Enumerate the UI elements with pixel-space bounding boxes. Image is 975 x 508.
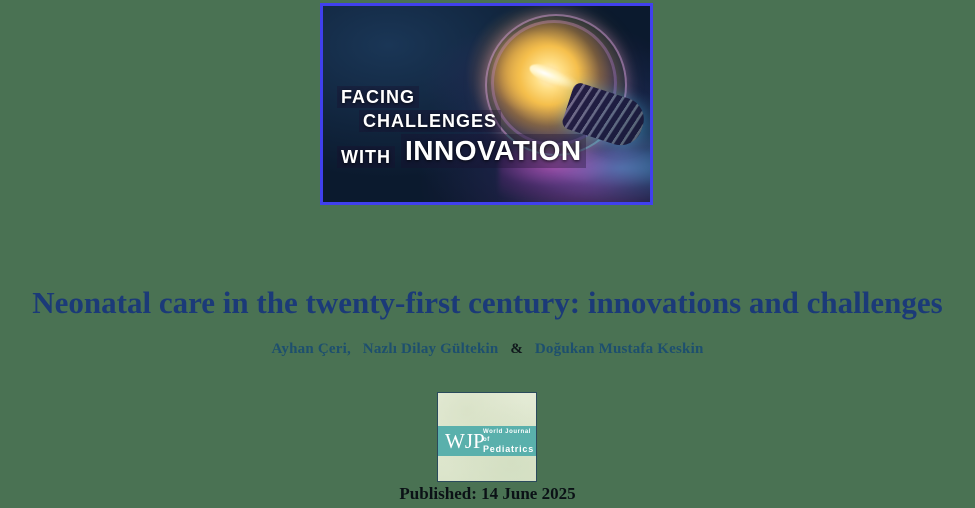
page-title-line-2: challenges	[807, 285, 943, 320]
hero-line-innovation: INNOVATION	[401, 134, 586, 167]
hero-line-with: WITH	[337, 146, 395, 168]
hero-text-block: FACING CHALLENGES WITH INNOVATION	[337, 86, 587, 168]
author-name-2[interactable]: Nazlı Dilay Gültekin	[363, 341, 499, 357]
journal-title-line-2: Pediatrics	[483, 444, 536, 455]
journal-cover-thumbnail[interactable]: WJP World Journal of Pediatrics	[437, 392, 537, 482]
journal-title-line-1: World Journal of	[483, 429, 536, 444]
author-separator: &	[510, 341, 523, 357]
hero-line-with-innovation-row: WITH INNOVATION	[337, 134, 587, 167]
article-hero-image[interactable]: FACING CHALLENGES WITH INNOVATION	[320, 3, 653, 205]
hero-line-facing: FACING	[337, 86, 419, 108]
page-title: Neonatal care in the twenty-first centur…	[0, 283, 975, 323]
journal-title-block: World Journal of Pediatrics	[483, 429, 536, 455]
author-list: Ayhan Çeri, Nazlı Dilay Gültekin & Doğuk…	[0, 341, 975, 358]
article-header-page: FACING CHALLENGES WITH INNOVATION Neonat…	[0, 0, 975, 508]
journal-acronym: WJP	[445, 426, 485, 456]
published-date: Published: 14 June 2025	[0, 484, 975, 504]
hero-line-challenges: CHALLENGES	[359, 110, 501, 132]
author-name-3[interactable]: Doğukan Mustafa Keskin	[535, 341, 704, 357]
author-name-1[interactable]: Ayhan Çeri,	[272, 341, 351, 357]
page-title-line-1: Neonatal care in the twenty-first centur…	[32, 285, 799, 320]
